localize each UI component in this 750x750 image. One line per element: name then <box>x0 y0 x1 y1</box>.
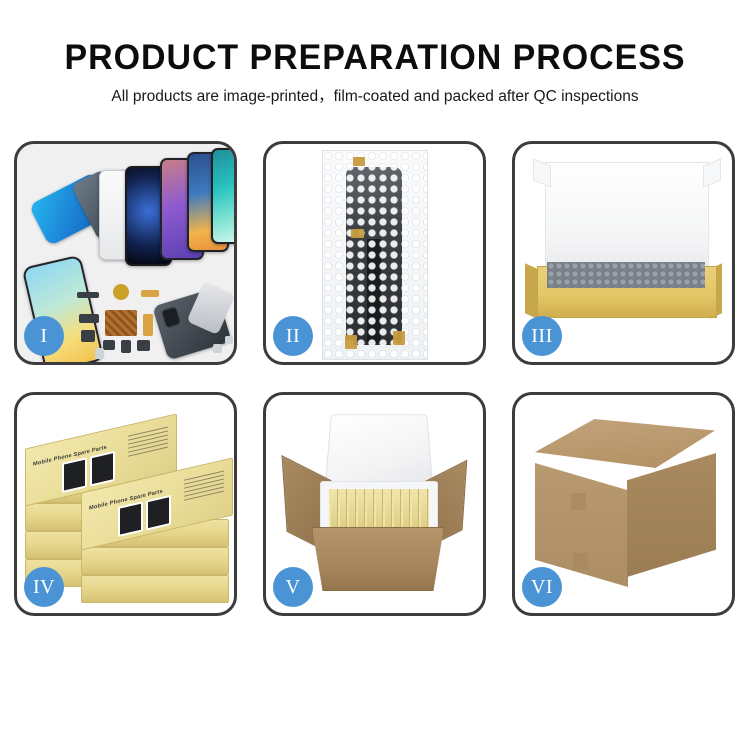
foam-box-contents <box>329 489 429 533</box>
small-chip-3 <box>103 340 115 350</box>
carton-body <box>312 527 444 591</box>
tape-bottom-right <box>393 331 405 345</box>
tape-bottom-left <box>345 335 357 349</box>
stacked-box-row-6 <box>81 547 229 575</box>
step-badge-3: III <box>522 316 562 356</box>
box-window-2b <box>146 495 171 531</box>
process-step-panel-3: III <box>512 141 735 365</box>
battery-connector <box>77 292 99 298</box>
sim-tray <box>95 348 104 359</box>
small-chip-1 <box>79 314 99 323</box>
bubble-wrap-texture <box>323 151 427 359</box>
tape-middle <box>351 229 364 238</box>
screw-1 <box>213 344 222 353</box>
carton-right-face <box>627 453 716 577</box>
phone-screen-teal <box>211 148 234 244</box>
process-step-panel-4: Mobile Phone Spare Parts Mobile Phone Sp… <box>14 392 237 616</box>
box-window-2a <box>118 501 143 537</box>
step-badge-2: II <box>273 316 313 356</box>
bubble-wrap-contents <box>547 262 705 288</box>
screw-2 <box>225 336 233 344</box>
box-side-left <box>525 263 537 319</box>
carton-tape-upper <box>571 493 586 510</box>
box-spec-lines-2 <box>184 471 224 504</box>
stacked-box-row-7 <box>81 575 229 603</box>
process-step-grid: I II III <box>14 141 736 616</box>
logic-board <box>105 310 137 336</box>
box-window-1a <box>62 457 87 493</box>
speaker-component <box>113 284 129 300</box>
flex-cable-1 <box>141 290 159 297</box>
transparent-bubble-bag <box>322 150 428 360</box>
step-badge-4: IV <box>24 567 64 607</box>
box-window-1b <box>90 451 115 487</box>
process-step-panel-1: I <box>14 141 237 365</box>
process-step-panel-5: V <box>263 392 486 616</box>
carton-tape-lower <box>573 553 588 570</box>
foam-box-lid <box>325 414 433 485</box>
flex-cable-2 <box>143 314 153 336</box>
process-step-panel-2: II <box>263 141 486 365</box>
page-header: PRODUCT PREPARATION PROCESS All products… <box>0 0 750 108</box>
small-chip-4 <box>121 340 131 353</box>
page-title: PRODUCT PREPARATION PROCESS <box>11 38 739 78</box>
white-foam-lid <box>545 162 709 272</box>
small-chip-5 <box>137 340 150 351</box>
small-chip-2 <box>81 330 95 342</box>
box-spec-lines-1 <box>128 427 168 460</box>
page-subtitle: All products are image-printed，film-coat… <box>0 86 750 108</box>
step-badge-5: V <box>273 567 313 607</box>
step-badge-1: I <box>24 316 64 356</box>
tape-top <box>353 157 365 166</box>
step-badge-6: VI <box>522 567 562 607</box>
process-step-panel-6: VI <box>512 392 735 616</box>
